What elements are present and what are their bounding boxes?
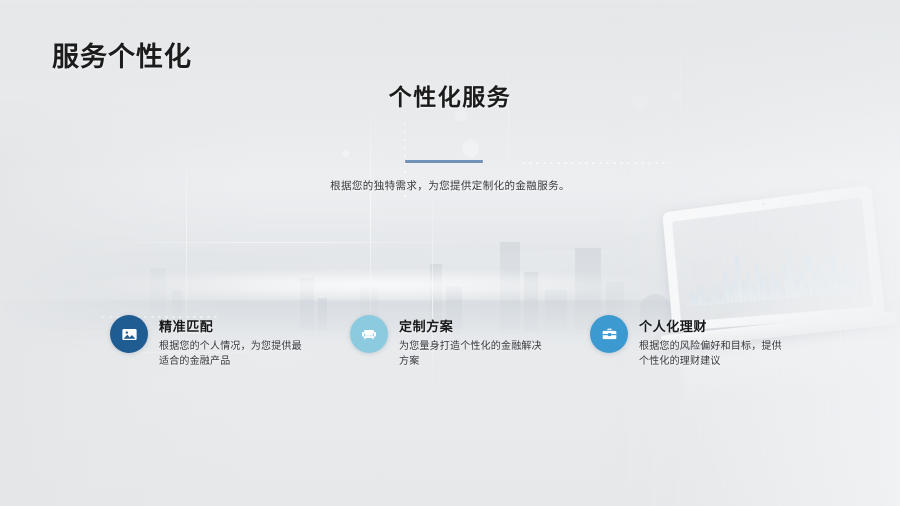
armchair-icon	[350, 315, 388, 353]
subtitle-text: 根据您的独特需求，为您提供定制化的金融服务。	[0, 178, 900, 193]
heading-divider	[405, 160, 483, 163]
feature-description: 根据您的个人情况，为您提供最适合的金融产品	[159, 339, 309, 369]
slide-kicker-title: 服务个性化	[52, 35, 192, 74]
slide-content: 服务个性化 个性化服务 根据您的独特需求，为您提供定制化的金融服务。 精准匹配 …	[0, 0, 900, 506]
feature-title: 个人化理财	[639, 316, 789, 335]
feature-item-personal-finance: 个人化理财 根据您的风险偏好和目标，提供个性化的理财建议	[590, 315, 820, 369]
toolbox-icon	[590, 315, 628, 353]
presentation-slide: 服务个性化 个性化服务 根据您的独特需求，为您提供定制化的金融服务。 精准匹配 …	[0, 0, 900, 506]
feature-title: 定制方案	[399, 316, 549, 335]
feature-text: 精准匹配 根据您的个人情况，为您提供最适合的金融产品	[159, 315, 309, 369]
feature-description: 根据您的风险偏好和目标，提供个性化的理财建议	[639, 339, 789, 369]
image-icon	[110, 315, 148, 353]
feature-description: 为您量身打造个性化的金融解决方案	[399, 339, 549, 369]
feature-text: 定制方案 为您量身打造个性化的金融解决方案	[399, 315, 549, 369]
feature-text: 个人化理财 根据您的风险偏好和目标，提供个性化的理财建议	[639, 315, 789, 369]
page-title: 个性化服务	[0, 78, 900, 112]
feature-item-precise-match: 精准匹配 根据您的个人情况，为您提供最适合的金融产品	[110, 315, 340, 369]
feature-title: 精准匹配	[159, 316, 309, 335]
feature-item-custom-plan: 定制方案 为您量身打造个性化的金融解决方案	[350, 315, 580, 369]
